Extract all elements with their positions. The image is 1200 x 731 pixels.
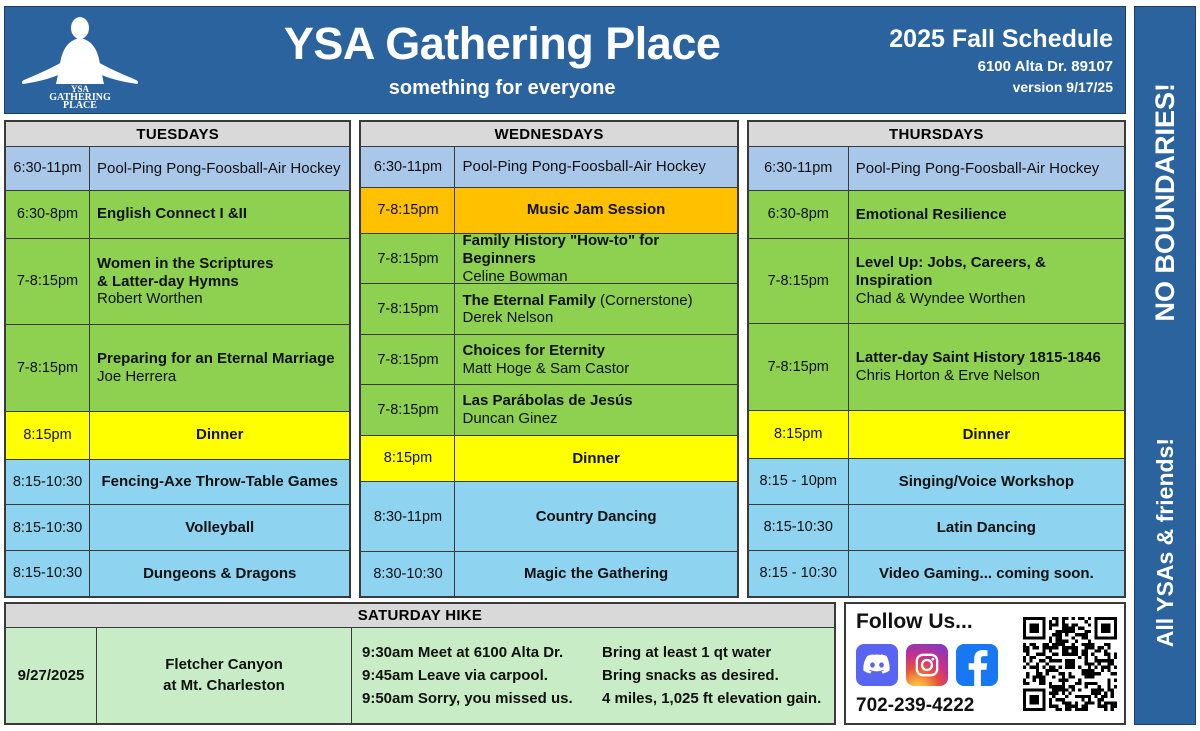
hike-line-right: Bring snacks as desired. (602, 664, 824, 687)
discord-icon[interactable] (856, 644, 898, 686)
row-time: 8:15-10:30 (6, 551, 90, 596)
schedule-row: 6:30-11pmPool-Ping Pong-Foosball-Air Hoc… (6, 147, 349, 191)
row-description: English Connect I &II (90, 191, 349, 238)
row-description: Pool-Ping Pong-Foosball-Air Hockey (455, 147, 736, 187)
bottom-section: SATURDAY HIKE 9/27/2025 Fletcher Canyon … (4, 602, 1126, 725)
row-description: Choices for EternityMatt Hoge & Sam Cast… (455, 335, 736, 384)
row-description: Country Dancing (455, 482, 736, 551)
schedule-row: 8:15 - 10pmSinging/Voice Workshop (749, 459, 1124, 505)
row-time: 8:15 - 10pm (749, 459, 849, 504)
side-banner: NO BOUNDARIES! All YSAs & friends! (1134, 6, 1196, 725)
row-time: 7-8:15pm (749, 324, 849, 410)
ysa-logo: YSA GATHERING PLACE (5, 10, 155, 110)
logo-text-line3: PLACE (63, 100, 97, 108)
row-time: 6:30-8pm (749, 191, 849, 238)
day-header-wednesday: WEDNESDAYS (361, 122, 736, 147)
row-description: Dinner (90, 412, 349, 459)
row-time: 7-8:15pm (361, 234, 455, 283)
row-presenter: Derek Nelson (462, 309, 729, 327)
row-title: Latin Dancing (937, 519, 1036, 537)
row-description: Emotional Resilience (849, 191, 1124, 238)
row-time: 8:15pm (6, 412, 90, 459)
hike-schedule-line: 9:30am Meet at 6100 Alta Dr.Bring at lea… (362, 641, 824, 664)
hike-date: 9/27/2025 (6, 628, 97, 723)
row-title: Fencing-Axe Throw-Table Games (102, 473, 338, 491)
follow-left: Follow Us... (852, 608, 1022, 719)
schedule-row: 7-8:15pmLevel Up: Jobs, Careers, & Inspi… (749, 239, 1124, 324)
hike-schedule-line: 9:50am Sorry, you missed us.4 miles, 1,0… (362, 687, 824, 710)
row-title: Choices for Eternity (462, 342, 729, 360)
schedule-row: 7-8:15pmWomen in the Scriptures& Latter-… (6, 239, 349, 326)
row-time: 8:15 - 10:30 (749, 551, 849, 596)
row-title: Women in the Scriptures (97, 255, 342, 273)
schedule-row: 7-8:15pmThe Eternal Family (Cornerstone)… (361, 284, 736, 334)
hike-line-left: 9:30am Meet at 6100 Alta Dr. (362, 641, 602, 664)
schedule-row: 8:15 - 10:30Video Gaming... coming soon. (749, 551, 1124, 596)
row-description: Level Up: Jobs, Careers, & InspirationCh… (849, 239, 1124, 323)
row-time: 6:30-11pm (749, 147, 849, 190)
row-description: Family History "How-to" for BeginnersCel… (455, 234, 736, 283)
version-label: version 9/17/25 (1013, 79, 1113, 95)
day-header-tuesday: TUESDAYS (6, 122, 349, 147)
hike-schedule-line: 9:45am Leave via carpool.Bring snacks as… (362, 664, 824, 687)
row-description: Singing/Voice Workshop (849, 459, 1124, 504)
schedule-row: 6:30-11pmPool-Ping Pong-Foosball-Air Hoc… (361, 147, 736, 188)
row-time: 7-8:15pm (361, 188, 455, 233)
row-time: 6:30-11pm (361, 147, 455, 187)
social-links (856, 644, 1022, 686)
schedule-row: 8:15pmDinner (361, 436, 736, 482)
hike-line-left: 9:45am Leave via carpool. (362, 664, 602, 687)
schedule-row: 7-8:15pmChoices for EternityMatt Hoge & … (361, 335, 736, 385)
banner-all-ysas: All YSAs & friends! (1152, 438, 1179, 647)
instagram-icon[interactable] (906, 644, 948, 686)
hike-header: SATURDAY HIKE (6, 604, 834, 628)
hike-location-line1: Fletcher Canyon (165, 655, 283, 675)
schedule-row: 8:30-10:30Magic the Gathering (361, 552, 736, 596)
header-meta: 2025 Fall Schedule 6100 Alta Dr. 89107 v… (889, 25, 1125, 96)
schedule-row: 6:30-8pmEmotional Resilience (749, 191, 1124, 239)
row-title: Dungeons & Dragons (143, 565, 296, 583)
qr-code[interactable] (1022, 608, 1118, 719)
row-title: Preparing for an Eternal Marriage (97, 350, 342, 368)
hike-line-right: 4 miles, 1,025 ft elevation gain. (602, 687, 824, 710)
row-time: 7-8:15pm (361, 385, 455, 434)
row-description: Pool-Ping Pong-Foosball-Air Hockey (849, 147, 1124, 190)
day-header-thursday: THURSDAYS (749, 122, 1124, 147)
schedule-row: 7-8:15pmPreparing for an Eternal Marriag… (6, 325, 349, 412)
row-time: 8:15-10:30 (6, 460, 90, 505)
row-description: Dinner (849, 411, 1124, 458)
row-description: Las Parábolas de JesúsDuncan Ginez (455, 385, 736, 434)
row-title: Dinner (572, 450, 620, 468)
row-presenter: Duncan Ginez (462, 410, 729, 428)
schedule-row: 8:15-10:30Volleyball (6, 505, 349, 551)
title-block: YSA Gathering Place something for everyo… (155, 20, 889, 100)
phone-number: 702-239-4222 (856, 695, 1022, 717)
day-column-thursday: THURSDAYS 6:30-11pmPool-Ping Pong-Foosba… (747, 120, 1126, 598)
row-title: English Connect I &II (97, 205, 342, 223)
follow-title: Follow Us... (856, 610, 1022, 634)
hike-body: 9/27/2025 Fletcher Canyon at Mt. Charles… (6, 628, 834, 723)
row-time: 8:15-10:30 (6, 505, 90, 550)
row-presenter: Celine Bowman (462, 268, 729, 286)
rows-wednesday: 6:30-11pmPool-Ping Pong-Foosball-Air Hoc… (361, 147, 736, 596)
page-title: YSA Gathering Place (284, 20, 720, 67)
schedule-row: 8:15-10:30Dungeons & Dragons (6, 551, 349, 596)
schedule-poster: YSA GATHERING PLACE YSA Gathering Place … (0, 0, 1200, 731)
row-title: Level Up: Jobs, Careers, & Inspiration (856, 254, 1117, 289)
row-time: 8:30-10:30 (361, 552, 455, 596)
row-time: 8:15-10:30 (749, 505, 849, 550)
row-time: 7-8:15pm (6, 325, 90, 411)
schedule-row: 7-8:15pmLatter-day Saint History 1815-18… (749, 324, 1124, 411)
row-time: 8:15pm (361, 436, 455, 481)
schedule-row: 8:15-10:30Fencing-Axe Throw-Table Games (6, 460, 349, 506)
hike-line-left: 9:50am Sorry, you missed us. (362, 687, 602, 710)
schedule-row: 7-8:15pmLas Parábolas de JesúsDuncan Gin… (361, 385, 736, 435)
row-presenter: Matt Hoge & Sam Castor (462, 360, 729, 378)
row-title: Singing/Voice Workshop (899, 473, 1074, 491)
row-title: Latter-day Saint History 1815-1846 (856, 349, 1117, 367)
row-description: Volleyball (90, 505, 349, 550)
row-description: Dinner (455, 436, 736, 481)
row-time: 8:15pm (749, 411, 849, 458)
row-time: 6:30-8pm (6, 191, 90, 238)
row-title: Video Gaming... coming soon. (879, 565, 1094, 583)
row-time: 7-8:15pm (361, 284, 455, 333)
row-description: Women in the Scriptures& Latter-day Hymn… (90, 239, 349, 325)
row-time: 6:30-11pm (6, 147, 90, 190)
hike-location-line2: at Mt. Charleston (163, 676, 285, 696)
row-title: Dinner (196, 426, 244, 444)
day-column-tuesday: TUESDAYS 6:30-11pmPool-Ping Pong-Foosbal… (4, 120, 351, 598)
row-title: Music Jam Session (527, 201, 665, 219)
facebook-icon[interactable] (956, 644, 998, 686)
rows-thursday: 6:30-11pmPool-Ping Pong-Foosball-Air Hoc… (749, 147, 1124, 596)
row-presenter: Chad & Wyndee Worthen (856, 290, 1117, 308)
hike-schedule: 9:30am Meet at 6100 Alta Dr.Bring at lea… (352, 628, 834, 723)
day-column-wednesday: WEDNESDAYS 6:30-11pmPool-Ping Pong-Foosb… (359, 120, 738, 598)
row-title-line2: & Latter-day Hymns (97, 273, 342, 291)
row-title: Las Parábolas de Jesús (462, 392, 729, 410)
row-title: Volleyball (185, 519, 254, 537)
schedule-row: 8:30-11pmCountry Dancing (361, 482, 736, 552)
row-presenter: Chris Horton & Erve Nelson (856, 367, 1117, 385)
row-title: Pool-Ping Pong-Foosball-Air Hockey (856, 160, 1117, 178)
schedule-row: 7-8:15pmMusic Jam Session (361, 188, 736, 234)
season-label: 2025 Fall Schedule (889, 25, 1113, 54)
row-title-suffix: (Cornerstone) (596, 292, 693, 309)
schedule-row: 6:30-11pmPool-Ping Pong-Foosball-Air Hoc… (749, 147, 1124, 191)
row-description: Video Gaming... coming soon. (849, 551, 1124, 596)
row-description: Latin Dancing (849, 505, 1124, 550)
row-description: Magic the Gathering (455, 552, 736, 596)
row-title: Pool-Ping Pong-Foosball-Air Hockey (462, 158, 729, 176)
row-time: 7-8:15pm (6, 239, 90, 325)
row-description: Preparing for an Eternal MarriageJoe Her… (90, 325, 349, 411)
follow-us-panel: Follow Us... (844, 602, 1126, 725)
row-title: Emotional Resilience (856, 206, 1117, 224)
row-time: 7-8:15pm (361, 335, 455, 384)
row-description: Latter-day Saint History 1815-1846Chris … (849, 324, 1124, 410)
row-title: The Eternal Family (Cornerstone) (462, 292, 729, 310)
row-time: 8:30-11pm (361, 482, 455, 551)
row-description: Pool-Ping Pong-Foosball-Air Hockey (90, 147, 349, 190)
row-presenter: Robert Worthen (97, 290, 342, 308)
schedule-row: 7-8:15pmFamily History "How-to" for Begi… (361, 234, 736, 284)
day-columns: TUESDAYS 6:30-11pmPool-Ping Pong-Foosbal… (4, 120, 1126, 598)
row-time: 7-8:15pm (749, 239, 849, 323)
hike-line-right: Bring at least 1 qt water (602, 641, 824, 664)
banner-no-boundaries: NO BOUNDARIES! (1150, 83, 1181, 322)
row-title: Country Dancing (536, 508, 657, 526)
row-description: Fencing-Axe Throw-Table Games (90, 460, 349, 505)
schedule-row: 6:30-8pmEnglish Connect I &II (6, 191, 349, 239)
row-description: Music Jam Session (455, 188, 736, 233)
schedule-row: 8:15pmDinner (6, 412, 349, 460)
schedule-row: 8:15-10:30Latin Dancing (749, 505, 1124, 551)
rows-tuesday: 6:30-11pmPool-Ping Pong-Foosball-Air Hoc… (6, 147, 349, 596)
row-description: Dungeons & Dragons (90, 551, 349, 596)
poster-header: YSA GATHERING PLACE YSA Gathering Place … (4, 6, 1126, 114)
row-title: Pool-Ping Pong-Foosball-Air Hockey (97, 160, 342, 178)
row-description: The Eternal Family (Cornerstone)Derek Ne… (455, 284, 736, 333)
hike-location: Fletcher Canyon at Mt. Charleston (97, 628, 352, 723)
row-title: Family History "How-to" for Beginners (462, 232, 729, 267)
schedule-row: 8:15pmDinner (749, 411, 1124, 459)
address-label: 6100 Alta Dr. 89107 (978, 58, 1113, 75)
row-presenter: Joe Herrera (97, 368, 342, 386)
saturday-hike-panel: SATURDAY HIKE 9/27/2025 Fletcher Canyon … (4, 602, 836, 725)
row-title: Dinner (963, 426, 1011, 444)
row-title: Magic the Gathering (524, 565, 668, 583)
page-tagline: something for everyone (389, 77, 616, 100)
